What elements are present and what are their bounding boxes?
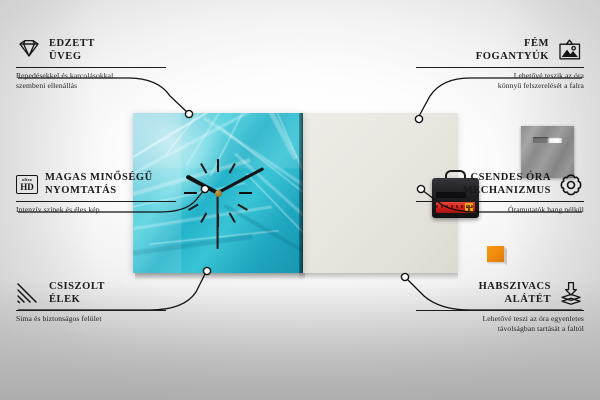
callout-divider — [416, 67, 584, 68]
metal-hanger-plate — [521, 126, 574, 178]
callout-description: Lehetővé teszi az óra egyenletes távolsá… — [416, 314, 584, 334]
clock-hand-cap — [215, 190, 222, 197]
orange-foam-spacer-pad — [487, 246, 504, 262]
callout-divider — [16, 67, 166, 68]
callout-divider — [416, 201, 584, 202]
foam-pad-press-icon — [558, 281, 584, 306]
product-stage — [133, 113, 458, 273]
callout-title: CSENDES ÓRA MECHANIZMUS — [463, 172, 551, 198]
callout-title: EDZETT ÜVEG — [49, 38, 95, 64]
callout-title: CSISZOLT ÉLEK — [49, 281, 105, 307]
callout-divider — [16, 310, 166, 311]
gear-icon — [558, 173, 584, 197]
clock-glass-edge — [299, 113, 303, 273]
callout-divider — [16, 201, 176, 202]
callout-title: HABSZIVACS ALÁTÉT — [479, 281, 551, 307]
callout-silent-mechanism: CSENDES ÓRA MECHANIZMUS Óramutatók hang … — [416, 172, 584, 215]
callout-title: FÉM FOGANTYÚK — [476, 38, 549, 64]
clock-second-hand — [217, 193, 219, 249]
back-panel-shadow — [299, 273, 458, 280]
callout-description: Intenzív színek és éles kép — [16, 205, 176, 215]
callout-polished-edges: CSISZOLT ÉLEK Sima és biztonságos felüle… — [16, 281, 166, 324]
polished-edge-icon — [16, 282, 42, 306]
callout-description: Repedésekkel és karcolásokkal szembeni e… — [16, 71, 166, 91]
callout-description: Lehetővé teszik az óra könnyű felszerelé… — [416, 71, 584, 91]
callout-high-quality-print: ultra HD MAGAS MINŐSÉGŰ NYOMTATÁS Intenz… — [16, 172, 176, 215]
callout-description: Óramutatók hang nélkül — [416, 205, 584, 215]
callout-divider — [416, 310, 584, 311]
callout-tempered-glass: EDZETT ÜVEG Repedésekkel és karcolásokka… — [16, 38, 166, 91]
foam-pad-side-edge — [504, 247, 507, 266]
picture-hanger-icon — [556, 38, 584, 63]
callout-foam-pad: HABSZIVACS ALÁTÉT Lehetővé teszi az óra … — [416, 281, 584, 334]
ultra-hd-icon: ultra HD — [16, 175, 38, 194]
callout-title: MAGAS MINŐSÉGŰ NYOMTATÁS — [45, 172, 153, 198]
callout-description: Sima és biztonságos felület — [16, 314, 166, 324]
hanger-slot — [533, 137, 562, 143]
callout-metal-handles: FÉM FOGANTYÚK Lehetővé teszik az óra kön… — [416, 38, 584, 91]
clock-drop-shadow — [135, 273, 305, 280]
diamond-icon — [16, 39, 42, 63]
